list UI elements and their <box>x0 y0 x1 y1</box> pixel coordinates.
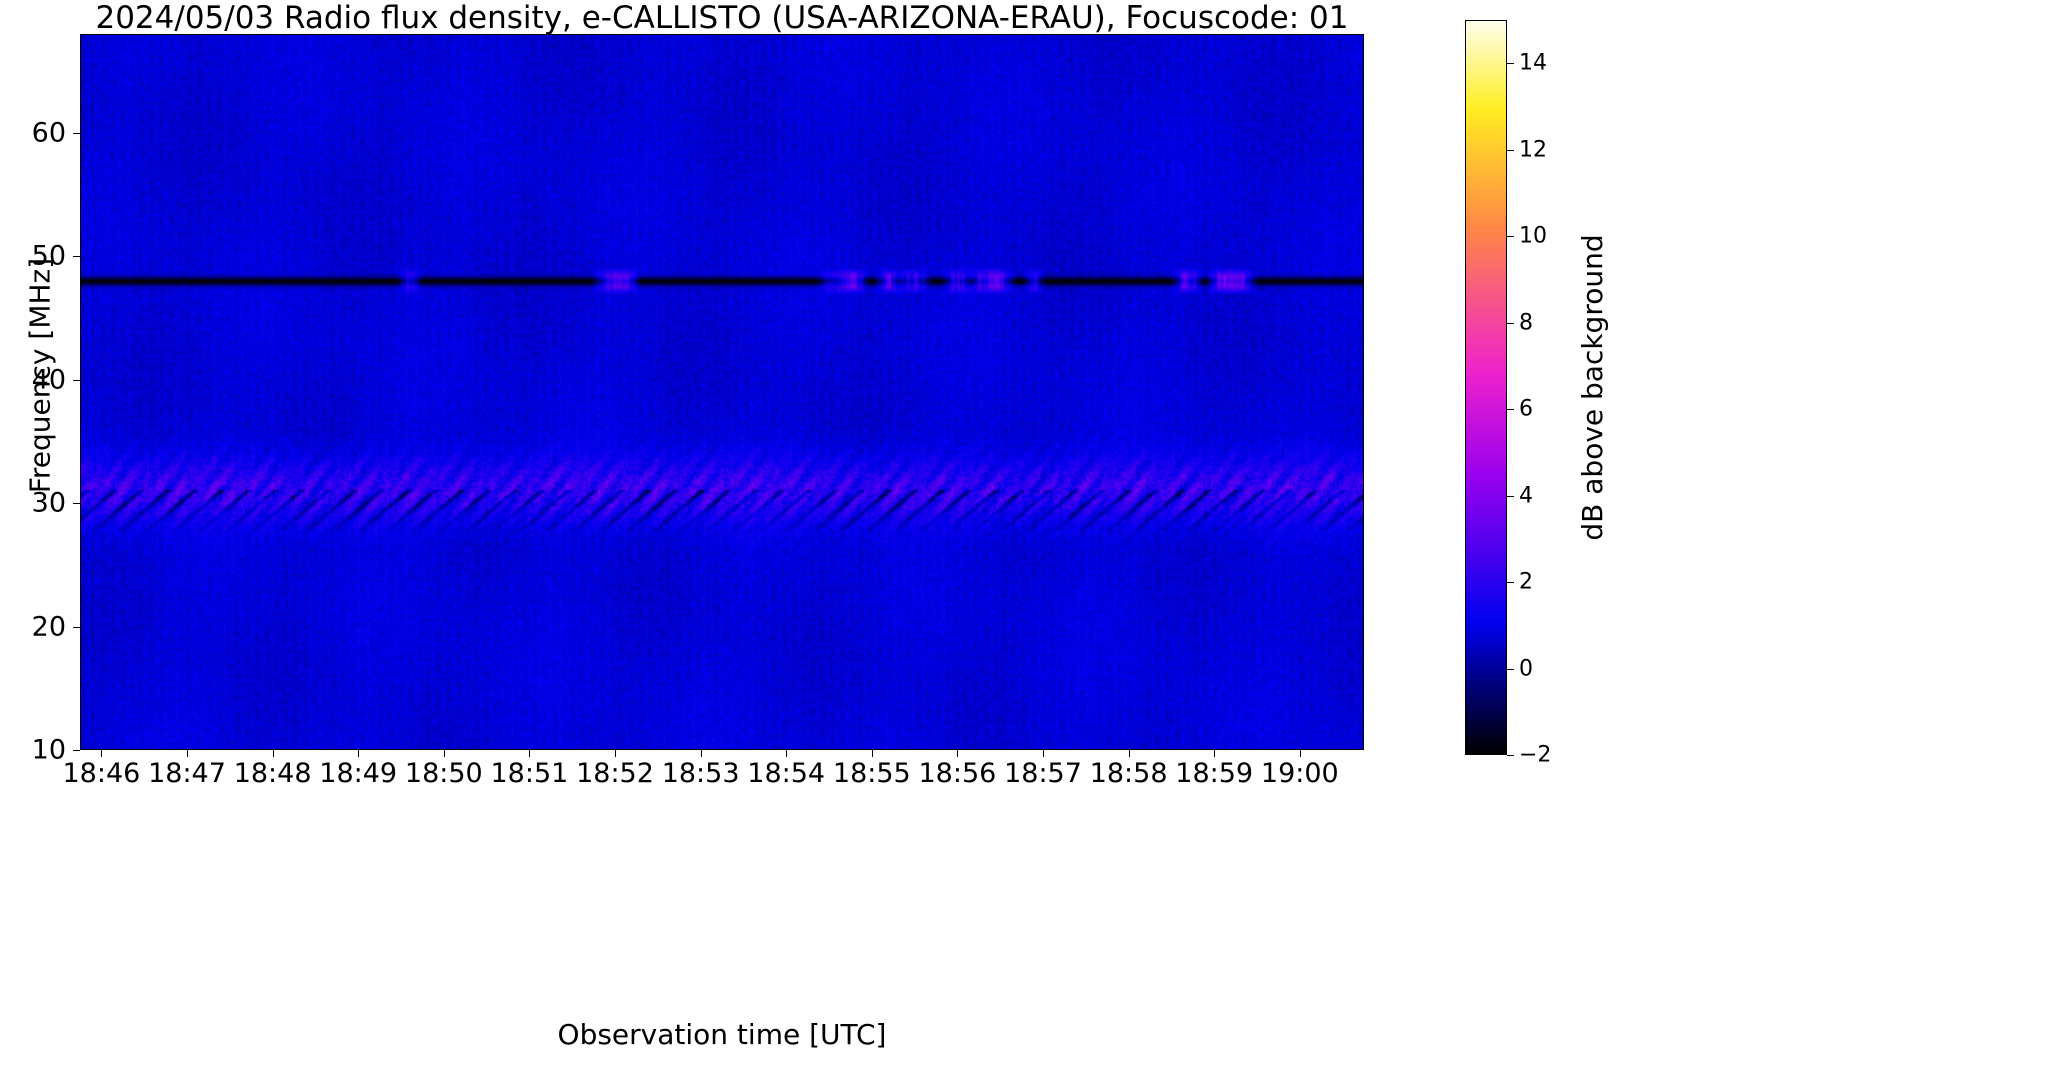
colorbar[interactable] <box>1465 20 1507 755</box>
colorbar-tick-mark <box>1507 63 1514 64</box>
x-axis-tick-label: 18:52 <box>576 758 654 789</box>
x-axis-tick-label: 18:55 <box>833 758 911 789</box>
x-axis-tick-labels: 18:4618:4718:4818:4918:5018:5118:5218:53… <box>80 750 1364 796</box>
colorbar-tick-mark <box>1507 755 1514 756</box>
y-axis-tick-mark <box>73 380 80 381</box>
x-axis-tick-label: 18:46 <box>62 758 140 789</box>
colorbar-tick-label: 4 <box>1519 483 1533 508</box>
colorbar-tick-label: −2 <box>1519 743 1551 768</box>
colorbar-tick-label: 8 <box>1519 310 1533 335</box>
page-title: 2024/05/03 Radio flux density, e-CALLIST… <box>80 2 1364 34</box>
colorbar-tick-label: 6 <box>1519 397 1533 422</box>
x-axis-tick-label: 18:59 <box>1175 758 1253 789</box>
spectrogram-canvas <box>81 35 1363 749</box>
x-axis-tick-label: 18:49 <box>319 758 397 789</box>
colorbar-tick-label: 2 <box>1519 570 1533 595</box>
colorbar-tick-mark <box>1507 236 1514 237</box>
colorbar-tick-mark <box>1507 582 1514 583</box>
y-axis-tick-mark <box>73 503 80 504</box>
x-axis-tick-label: 18:50 <box>405 758 483 789</box>
colorbar-gradient <box>1466 21 1506 754</box>
y-axis-title: Frequency [MHz] <box>24 18 57 734</box>
colorbar-tick-label: 14 <box>1519 51 1547 76</box>
x-axis-tick-label: 18:48 <box>234 758 312 789</box>
colorbar-tick-label: 10 <box>1519 224 1547 249</box>
spectrogram-figure: 2024/05/03 Radio flux density, e-CALLIST… <box>0 0 2047 1067</box>
x-axis-tick-label: 18:53 <box>662 758 740 789</box>
colorbar-tick-labels: 14121086420−2 <box>1507 20 1567 755</box>
x-axis-tick-label: 18:56 <box>918 758 996 789</box>
x-axis-tick-label: 18:54 <box>747 758 825 789</box>
spectrogram-image <box>81 35 1363 749</box>
colorbar-tick-mark <box>1507 669 1514 670</box>
x-axis-tick-label: 18:47 <box>148 758 226 789</box>
y-axis-tick-mark <box>73 750 80 751</box>
y-axis-tick-mark <box>73 133 80 134</box>
colorbar-tick-mark <box>1507 496 1514 497</box>
colorbar-tick-mark <box>1507 150 1514 151</box>
y-axis-tick-mark <box>73 627 80 628</box>
colorbar-title: dB above background <box>1572 20 1614 755</box>
y-axis-tick-mark <box>73 256 80 257</box>
colorbar-tick-mark <box>1507 409 1514 410</box>
x-axis-tick-label: 19:00 <box>1261 758 1339 789</box>
x-axis-tick-label: 18:57 <box>1004 758 1082 789</box>
colorbar-tick-label: 0 <box>1519 656 1533 681</box>
x-axis-title: Observation time [UTC] <box>80 1018 1364 1051</box>
colorbar-tick-label: 12 <box>1519 137 1547 162</box>
spectrogram-plot-area[interactable] <box>80 34 1364 750</box>
colorbar-tick-mark <box>1507 323 1514 324</box>
x-axis-tick-label: 18:58 <box>1090 758 1168 789</box>
x-axis-tick-label: 18:51 <box>490 758 568 789</box>
